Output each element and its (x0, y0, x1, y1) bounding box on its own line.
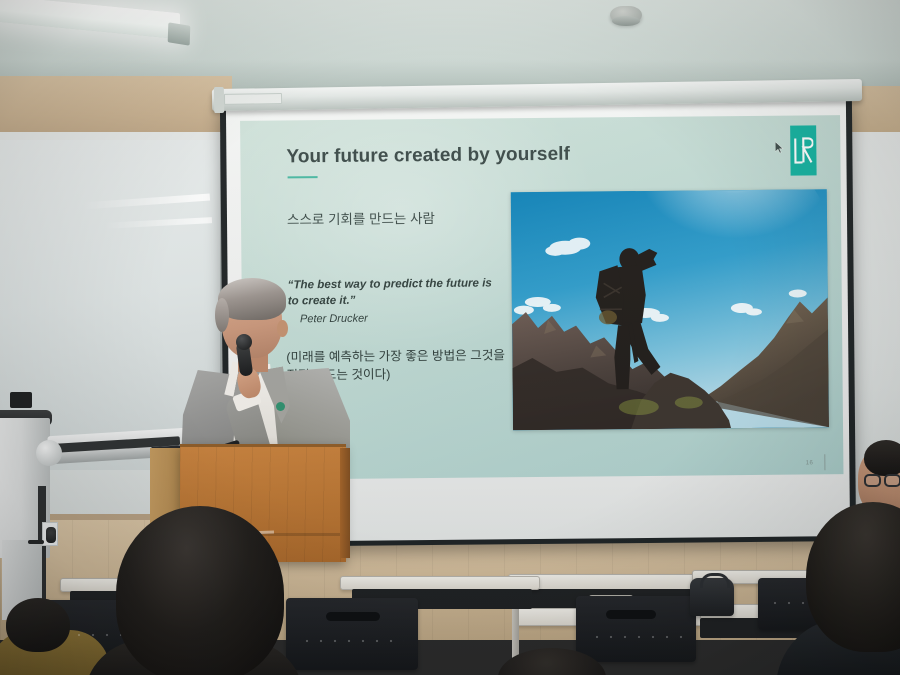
smoke-detector-icon (610, 6, 642, 24)
lecture-hall-photo: Your future created by yourself 스스로 기회를 … (0, 0, 900, 675)
desk-surface (340, 576, 540, 590)
slide-title: Your future created by yourself (286, 144, 570, 169)
classroom-chair (576, 596, 696, 662)
whiteboard-reflection (104, 217, 212, 229)
whiteboard-reflection (82, 194, 210, 210)
outlet-cable (28, 540, 44, 544)
roller-label (224, 93, 282, 105)
eyeglasses-icon (864, 474, 900, 488)
chair-perforations (300, 634, 404, 652)
mouse-cursor-icon (775, 142, 784, 154)
slide-page-number: 16 (806, 460, 814, 466)
roller-bracket (214, 87, 224, 113)
wood-wall-panel-upper-left (0, 76, 232, 140)
fluorescent-light-endcap (168, 22, 191, 45)
chair-perforations (590, 630, 682, 646)
wall-fixture (10, 392, 32, 408)
audience-member-far-left-head (6, 598, 70, 652)
slide-photo-hiker-mountain (511, 189, 829, 430)
audience-member-right-glasses-hair (864, 440, 900, 476)
lr-logo-icon (793, 136, 813, 164)
lr-logo (790, 125, 816, 175)
presenter-hair-side (215, 298, 229, 332)
slide-page-rule (824, 454, 825, 470)
chair-backrest-slot (606, 610, 656, 619)
microphone-head-icon (236, 334, 252, 350)
podium-side-panel (340, 448, 350, 558)
printer-roller-knob (36, 440, 62, 466)
audience-member-front-left-head (116, 506, 284, 675)
chair-backrest-slot (326, 612, 380, 621)
slide-title-accent-rule (288, 176, 318, 178)
wall-outlet (42, 522, 58, 546)
backpack-on-desk (690, 578, 734, 616)
slide-subtitle: 스스로 기회를 만드는 사람 (287, 207, 435, 228)
presenter-ear (277, 320, 288, 337)
presenter-lapel-pin (276, 402, 285, 411)
